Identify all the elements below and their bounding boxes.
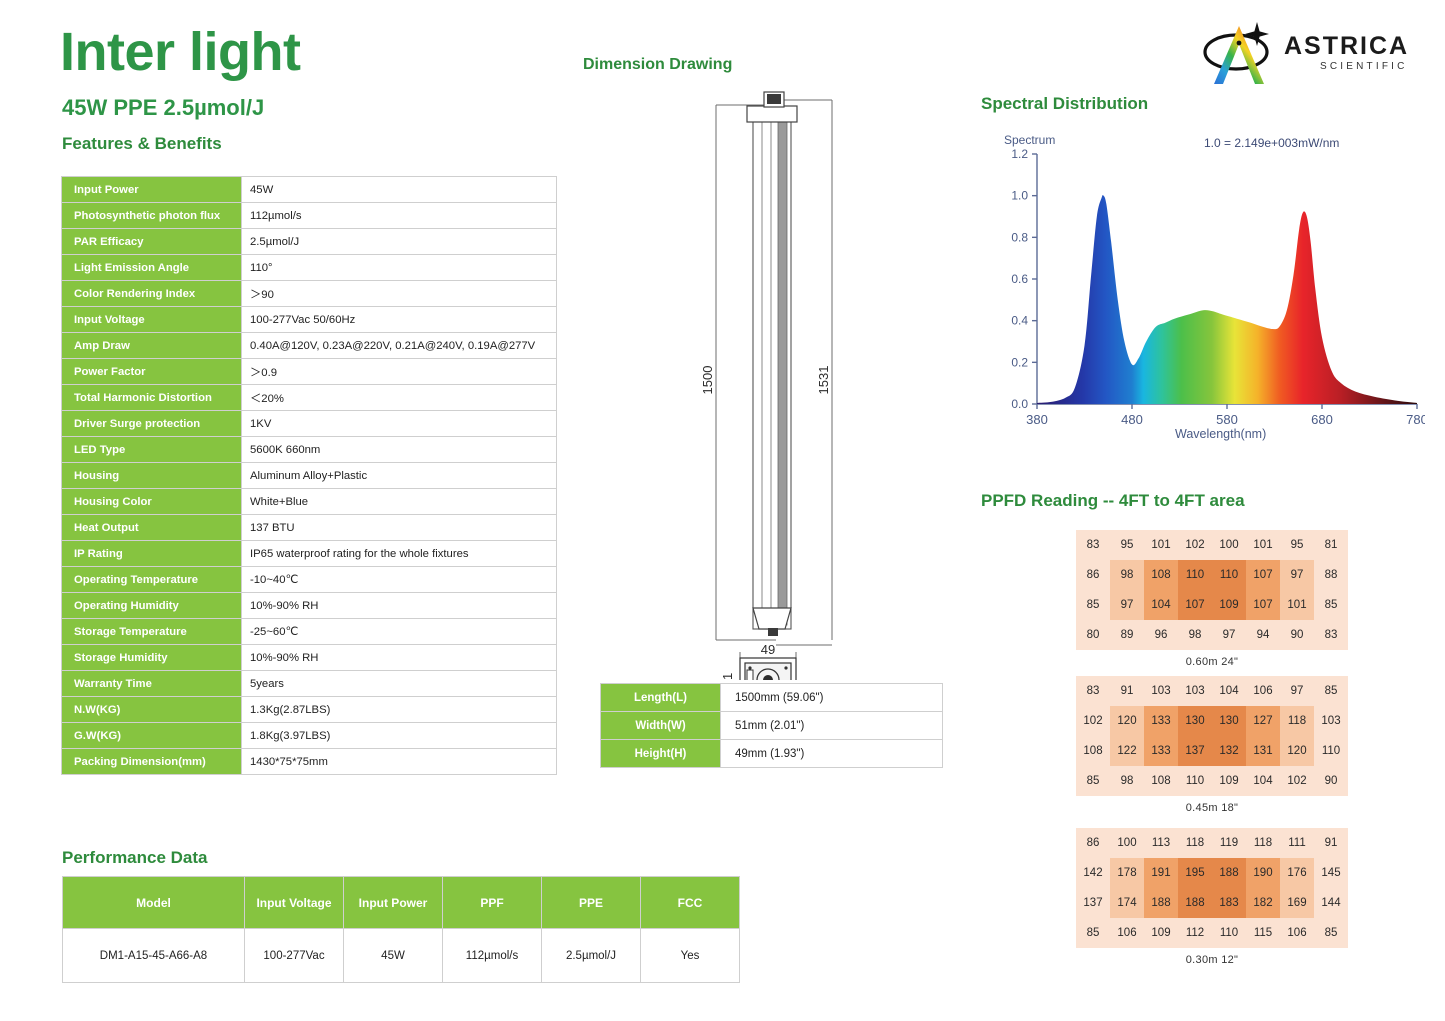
ppfd-cell: 106 xyxy=(1110,918,1144,948)
ppfd-cell: 108 xyxy=(1144,560,1178,590)
spec-key: Total Harmonic Distortion xyxy=(62,385,242,411)
ppfd-cell: 174 xyxy=(1110,888,1144,918)
ppfd-cell: 112 xyxy=(1178,918,1212,948)
spec-value: 1430*75*75mm xyxy=(242,749,557,775)
spec-key: Heat Output xyxy=(62,515,242,541)
perf-cell: 2.5µmol/J xyxy=(542,929,641,983)
x-tick-label: 780 xyxy=(1406,412,1425,427)
ppfd-cell: 182 xyxy=(1246,888,1280,918)
ppfd-cell: 120 xyxy=(1280,736,1314,766)
ppfd-cell: 89 xyxy=(1110,620,1144,650)
spec-value: 45W xyxy=(242,177,557,203)
spec-key: LED Type xyxy=(62,437,242,463)
dimension-key: Width(W) xyxy=(601,712,721,740)
ppfd-row: 86981081101101079788 xyxy=(1076,560,1348,590)
ppfd-cell: 183 xyxy=(1212,888,1246,918)
table-row: Input Power45W xyxy=(62,177,557,203)
section-heading-dimension: Dimension Drawing xyxy=(583,56,732,74)
ppfd-cell: 101 xyxy=(1144,530,1178,560)
ppfd-cell: 95 xyxy=(1280,530,1314,560)
spec-value: 10%-90% RH xyxy=(242,645,557,671)
ppfd-cell: 118 xyxy=(1178,828,1212,858)
table-row: N.W(KG)1.3Kg(2.87LBS) xyxy=(62,697,557,723)
spec-value: 100-277Vac 50/60Hz xyxy=(242,307,557,333)
spec-key: Packing Dimension(mm) xyxy=(62,749,242,775)
table-row: Width(W)51mm (2.01") xyxy=(601,712,943,740)
spec-key: PAR Efficacy xyxy=(62,229,242,255)
ppfd-row: 83911031031041069785 xyxy=(1076,676,1348,706)
ppfd-cell: 115 xyxy=(1246,918,1280,948)
ppfd-cell: 109 xyxy=(1144,918,1178,948)
table-row: G.W(KG)1.8Kg(3.97LBS) xyxy=(62,723,557,749)
spec-key: Amp Draw xyxy=(62,333,242,359)
ppfd-cell: 118 xyxy=(1280,706,1314,736)
spec-value: -25~60℃ xyxy=(242,619,557,645)
ppfd-cell: 107 xyxy=(1178,590,1212,620)
x-tick-label: 480 xyxy=(1121,412,1143,427)
section-heading-features: Features & Benefits xyxy=(62,134,222,154)
x-tick-label: 580 xyxy=(1216,412,1238,427)
ppfd-cell: 104 xyxy=(1212,676,1246,706)
ppfd-cell: 109 xyxy=(1212,590,1246,620)
ppfd-cell: 188 xyxy=(1178,888,1212,918)
ppfd-cell: 104 xyxy=(1246,766,1280,796)
ppfd-cell: 103 xyxy=(1178,676,1212,706)
spec-key: G.W(KG) xyxy=(62,723,242,749)
spec-value: 0.40A@120V, 0.23A@220V, 0.21A@240V, 0.19… xyxy=(242,333,557,359)
dimension-value: 1500mm (59.06") xyxy=(721,684,943,712)
ppfd-cell: 169 xyxy=(1280,888,1314,918)
ppfd-cell: 85 xyxy=(1314,590,1348,620)
dimension-value: 51mm (2.01") xyxy=(721,712,943,740)
table-row: Heat Output137 BTU xyxy=(62,515,557,541)
ppfd-cell: 131 xyxy=(1246,736,1280,766)
ppfd-cell: 137 xyxy=(1178,736,1212,766)
ppfd-cell: 188 xyxy=(1212,858,1246,888)
callout-height: 51 xyxy=(720,673,735,680)
y-tick-label: 0.6 xyxy=(1011,272,1028,286)
spec-value: 10%-90% RH xyxy=(242,593,557,619)
ppfd-grid-0: 8395101102100101958186981081101101079788… xyxy=(1076,530,1348,650)
perf-column-header: Input Voltage xyxy=(245,877,344,929)
ppfd-cell: 83 xyxy=(1076,530,1110,560)
y-tick-label: 0.8 xyxy=(1011,230,1028,244)
spec-key: Photosynthetic photon flux xyxy=(62,203,242,229)
ppfd-cell: 83 xyxy=(1314,620,1348,650)
ppfd-cell: 122 xyxy=(1110,736,1144,766)
spec-value: 5years xyxy=(242,671,557,697)
perf-column-header: Input Power xyxy=(344,877,443,929)
ppfd-cell: 85 xyxy=(1314,676,1348,706)
ppfd-cell: 127 xyxy=(1246,706,1280,736)
performance-table-body: DM1-A15-45-A66-A8100-277Vac45W112µmol/s2… xyxy=(63,929,740,983)
ppfd-caption-0: 0.60m 24" xyxy=(1076,656,1348,668)
ppfd-cell: 119 xyxy=(1212,828,1246,858)
ppfd-row: 108122133137132131120110 xyxy=(1076,736,1348,766)
ppfd-cell: 85 xyxy=(1076,766,1110,796)
table-row: IP RatingIP65 waterproof rating for the … xyxy=(62,541,557,567)
ppfd-cell: 85 xyxy=(1314,918,1348,948)
ppfd-cell: 103 xyxy=(1144,676,1178,706)
ppfd-cell: 144 xyxy=(1314,888,1348,918)
table-row: Color Rendering Index＞90 xyxy=(62,281,557,307)
ppfd-row: 8510610911211011510685 xyxy=(1076,918,1348,948)
table-row: Light Emission Angle110° xyxy=(62,255,557,281)
logo-tagline: SCIENTIFIC xyxy=(1320,61,1408,72)
ppfd-cell: 130 xyxy=(1178,706,1212,736)
dimension-table-body: Length(L)1500mm (59.06")Width(W)51mm (2.… xyxy=(601,684,943,768)
ppfd-cell: 109 xyxy=(1212,766,1246,796)
spec-key: Storage Humidity xyxy=(62,645,242,671)
dimension-drawing: 1500 1531 49 51 xyxy=(600,80,950,680)
ppfd-cell: 191 xyxy=(1144,858,1178,888)
ppfd-cell: 137 xyxy=(1076,888,1110,918)
spec-key: Warranty Time xyxy=(62,671,242,697)
perf-cell: 45W xyxy=(344,929,443,983)
spec-value: 1KV xyxy=(242,411,557,437)
ppfd-cell: 101 xyxy=(1280,590,1314,620)
perf-cell: 100-277Vac xyxy=(245,929,344,983)
ppfd-cell: 110 xyxy=(1178,560,1212,590)
ppfd-cell: 195 xyxy=(1178,858,1212,888)
table-row: HousingAluminum Alloy+Plastic xyxy=(62,463,557,489)
ppfd-cell: 85 xyxy=(1076,918,1110,948)
ppfd-cell: 103 xyxy=(1314,706,1348,736)
x-tick-label: 380 xyxy=(1026,412,1048,427)
table-row: Storage Humidity10%-90% RH xyxy=(62,645,557,671)
table-row: Operating Humidity10%-90% RH xyxy=(62,593,557,619)
ppfd-cell: 176 xyxy=(1280,858,1314,888)
spec-value: IP65 waterproof rating for the whole fix… xyxy=(242,541,557,567)
ppfd-cell: 142 xyxy=(1076,858,1110,888)
y-tick-label: 0.2 xyxy=(1011,355,1028,369)
ppfd-cell: 108 xyxy=(1144,766,1178,796)
spec-key: Light Emission Angle xyxy=(62,255,242,281)
ppfd-cell: 104 xyxy=(1144,590,1178,620)
ppfd-cell: 108 xyxy=(1076,736,1110,766)
callout-length-inner: 1500 xyxy=(700,366,715,395)
astrica-logo-mark xyxy=(1200,12,1278,86)
callout-width: 49 xyxy=(761,642,775,657)
spectral-distribution-chart: 0.00.20.40.60.81.01.2380480580680780 xyxy=(985,128,1425,448)
table-row: Warranty Time5years xyxy=(62,671,557,697)
y-tick-label: 0.0 xyxy=(1011,397,1028,411)
spec-value: ＞90 xyxy=(242,281,557,307)
ppfd-cell: 120 xyxy=(1110,706,1144,736)
ppfd-row: 142178191195188190176145 xyxy=(1076,858,1348,888)
ppfd-row: 102120133130130127118103 xyxy=(1076,706,1348,736)
table-row: Photosynthetic photon flux112µmol/s xyxy=(62,203,557,229)
ppfd-cell: 97 xyxy=(1212,620,1246,650)
table-row: Power Factor＞0.9 xyxy=(62,359,557,385)
spec-key: Housing xyxy=(62,463,242,489)
section-heading-ppfd: PPFD Reading -- 4FT to 4FT area xyxy=(981,491,1245,511)
dimension-value: 49mm (1.93") xyxy=(721,740,943,768)
ppfd-grid-2: 8610011311811911811191142178191195188190… xyxy=(1076,828,1348,948)
ppfd-block-0: 8395101102100101958186981081101101079788… xyxy=(1076,530,1348,668)
table-row: Total Harmonic Distortion＜20% xyxy=(62,385,557,411)
ppfd-cell: 97 xyxy=(1110,590,1144,620)
ppfd-cell: 88 xyxy=(1314,560,1348,590)
table-row: Height(H)49mm (1.93") xyxy=(601,740,943,768)
page-subtitle: 45W PPE 2.5µmol/J xyxy=(62,95,264,121)
callout-length-outer: 1531 xyxy=(816,366,831,395)
dimension-key: Length(L) xyxy=(601,684,721,712)
spec-value: White+Blue xyxy=(242,489,557,515)
star-icon xyxy=(1245,22,1269,46)
x-tick-label: 680 xyxy=(1311,412,1333,427)
ppfd-cell: 86 xyxy=(1076,560,1110,590)
spec-key: IP Rating xyxy=(62,541,242,567)
ppfd-row: 8089969897949083 xyxy=(1076,620,1348,650)
astrica-logo: ASTRICA SCIENTIFIC xyxy=(1200,12,1428,86)
table-row: Amp Draw0.40A@120V, 0.23A@220V, 0.21A@24… xyxy=(62,333,557,359)
ppfd-cell: 96 xyxy=(1144,620,1178,650)
table-row: DM1-A15-45-A66-A8100-277Vac45W112µmol/s2… xyxy=(63,929,740,983)
perf-column-header: Model xyxy=(63,877,245,929)
table-row: Length(L)1500mm (59.06") xyxy=(601,684,943,712)
spec-key: Operating Humidity xyxy=(62,593,242,619)
page-title: Inter light xyxy=(60,25,300,79)
table-row: PAR Efficacy2.5µmol/J xyxy=(62,229,557,255)
ppfd-row: 8610011311811911811191 xyxy=(1076,828,1348,858)
ppfd-cell: 178 xyxy=(1110,858,1144,888)
spec-value: -10~40℃ xyxy=(242,567,557,593)
section-heading-performance: Performance Data xyxy=(62,848,208,868)
spec-value: ＞0.9 xyxy=(242,359,557,385)
ppfd-cell: 111 xyxy=(1280,828,1314,858)
ppfd-cell: 102 xyxy=(1280,766,1314,796)
ppfd-cell: 90 xyxy=(1314,766,1348,796)
ppfd-cell: 106 xyxy=(1280,918,1314,948)
ppfd-block-1: 8391103103104106978510212013313013012711… xyxy=(1076,676,1348,814)
ppfd-block-2: 8610011311811911811191142178191195188190… xyxy=(1076,828,1348,966)
ppfd-cell: 98 xyxy=(1178,620,1212,650)
table-row: Operating Temperature-10~40℃ xyxy=(62,567,557,593)
perf-cell: Yes xyxy=(641,929,740,983)
ppfd-cell: 188 xyxy=(1144,888,1178,918)
ppfd-cell: 97 xyxy=(1280,560,1314,590)
spec-key: Housing Color xyxy=(62,489,242,515)
performance-data-table: ModelInput VoltageInput PowerPPFPPEFCC D… xyxy=(62,876,740,983)
ppfd-cell: 132 xyxy=(1212,736,1246,766)
spec-key: Operating Temperature xyxy=(62,567,242,593)
y-tick-label: 0.4 xyxy=(1011,314,1028,328)
ppfd-cell: 107 xyxy=(1246,560,1280,590)
features-benefits-table: Input Power45WPhotosynthetic photon flux… xyxy=(61,176,557,775)
dimension-table: Length(L)1500mm (59.06")Width(W)51mm (2.… xyxy=(600,683,943,768)
y-tick-label: 1.2 xyxy=(1011,147,1028,161)
perf-column-header: PPE xyxy=(542,877,641,929)
ppfd-cell: 91 xyxy=(1110,676,1144,706)
features-table-body: Input Power45WPhotosynthetic photon flux… xyxy=(62,177,557,775)
ppfd-cell: 98 xyxy=(1110,560,1144,590)
ppfd-cell: 86 xyxy=(1076,828,1110,858)
spec-value: 2.5µmol/J xyxy=(242,229,557,255)
ppfd-cell: 98 xyxy=(1110,766,1144,796)
ppfd-cell: 91 xyxy=(1314,828,1348,858)
spec-value: 112µmol/s xyxy=(242,203,557,229)
table-row: Packing Dimension(mm)1430*75*75mm xyxy=(62,749,557,775)
ppfd-cell: 110 xyxy=(1178,766,1212,796)
table-row: Driver Surge protection1KV xyxy=(62,411,557,437)
spec-key: Storage Temperature xyxy=(62,619,242,645)
logo-wordmark: ASTRICA xyxy=(1284,32,1409,61)
spec-key: Input Power xyxy=(62,177,242,203)
ppfd-cell: 133 xyxy=(1144,736,1178,766)
ppfd-cell: 113 xyxy=(1144,828,1178,858)
perf-column-header: PPF xyxy=(443,877,542,929)
ppfd-cell: 97 xyxy=(1280,676,1314,706)
spec-value: 1.3Kg(2.87LBS) xyxy=(242,697,557,723)
section-heading-spectral: Spectral Distribution xyxy=(981,94,1148,114)
spec-key: Power Factor xyxy=(62,359,242,385)
spec-value: 1.8Kg(3.97LBS) xyxy=(242,723,557,749)
spec-value: 5600K 660nm xyxy=(242,437,557,463)
ppfd-cell: 110 xyxy=(1314,736,1348,766)
spec-value: Aluminum Alloy+Plastic xyxy=(242,463,557,489)
spec-key: Input Voltage xyxy=(62,307,242,333)
spec-key: N.W(KG) xyxy=(62,697,242,723)
ppfd-cell: 110 xyxy=(1212,918,1246,948)
spec-value: ＜20% xyxy=(242,385,557,411)
ppfd-cell: 100 xyxy=(1110,828,1144,858)
ppfd-row: 137174188188183182169144 xyxy=(1076,888,1348,918)
ppfd-cell: 80 xyxy=(1076,620,1110,650)
performance-table-head: ModelInput VoltageInput PowerPPFPPEFCC xyxy=(63,877,740,929)
ppfd-cell: 106 xyxy=(1246,676,1280,706)
spec-value: 137 BTU xyxy=(242,515,557,541)
ppfd-cell: 110 xyxy=(1212,560,1246,590)
dimension-key: Height(H) xyxy=(601,740,721,768)
perf-cell: DM1-A15-45-A66-A8 xyxy=(63,929,245,983)
ppfd-cell: 190 xyxy=(1246,858,1280,888)
ppfd-cell: 95 xyxy=(1110,530,1144,560)
ppfd-row: 83951011021001019581 xyxy=(1076,530,1348,560)
perf-column-header: FCC xyxy=(641,877,740,929)
table-row: Storage Temperature-25~60℃ xyxy=(62,619,557,645)
ppfd-cell: 85 xyxy=(1076,590,1110,620)
ppfd-cell: 102 xyxy=(1178,530,1212,560)
y-tick-label: 1.0 xyxy=(1011,189,1028,203)
ppfd-cell: 101 xyxy=(1246,530,1280,560)
ppfd-cell: 130 xyxy=(1212,706,1246,736)
ppfd-cell: 102 xyxy=(1076,706,1110,736)
perf-cell: 112µmol/s xyxy=(443,929,542,983)
ppfd-cell: 107 xyxy=(1246,590,1280,620)
ppfd-cell: 133 xyxy=(1144,706,1178,736)
ppfd-caption-1: 0.45m 18" xyxy=(1076,802,1348,814)
ppfd-caption-2: 0.30m 12" xyxy=(1076,954,1348,966)
table-row: Input Voltage100-277Vac 50/60Hz xyxy=(62,307,557,333)
ppfd-grid-1: 8391103103104106978510212013313013012711… xyxy=(1076,676,1348,796)
spec-value: 110° xyxy=(242,255,557,281)
ppfd-cell: 100 xyxy=(1212,530,1246,560)
ppfd-cell: 83 xyxy=(1076,676,1110,706)
ppfd-row: 859710410710910710185 xyxy=(1076,590,1348,620)
ppfd-row: 859810811010910410290 xyxy=(1076,766,1348,796)
spec-key: Color Rendering Index xyxy=(62,281,242,307)
spectrum-curve xyxy=(1037,195,1417,404)
ppfd-cell: 118 xyxy=(1246,828,1280,858)
ppfd-cell: 145 xyxy=(1314,858,1348,888)
spec-key: Driver Surge protection xyxy=(62,411,242,437)
table-row: Housing ColorWhite+Blue xyxy=(62,489,557,515)
ppfd-cell: 90 xyxy=(1280,620,1314,650)
datasheet-page: Inter light 45W PPE 2.5µmol/J ASTRICA SC… xyxy=(0,0,1445,1021)
ppfd-cell: 94 xyxy=(1246,620,1280,650)
ppfd-cell: 81 xyxy=(1314,530,1348,560)
table-row: LED Type5600K 660nm xyxy=(62,437,557,463)
